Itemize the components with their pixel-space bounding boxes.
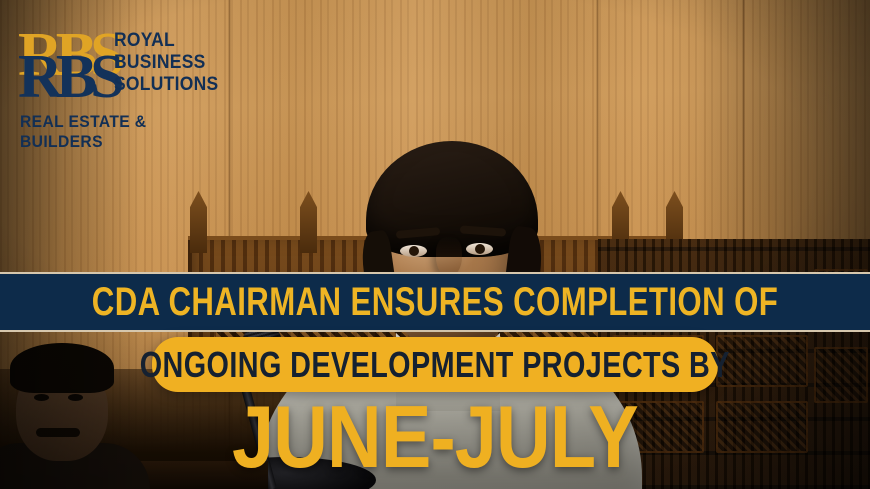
headline-line-3: JUNE-JULY (232, 394, 638, 480)
headline-line-1: CDA CHAIRMAN ENSURES COMPLETION OF (92, 280, 778, 325)
company-tagline: REAL ESTATE & BUILDERS (20, 112, 217, 152)
monogram-navy-text: RBS (18, 46, 118, 108)
company-logo[interactable]: RBS RBS ROYAL BUSINESS SOLUTIONS REAL ES… (18, 24, 234, 136)
headline-band-primary: CDA CHAIRMAN ENSURES COMPLETION OF (0, 272, 870, 332)
rbs-monogram: RBS RBS (18, 24, 114, 110)
company-name: ROYAL BUSINESS SOLUTIONS (114, 30, 228, 96)
news-banner: RBS RBS ROYAL BUSINESS SOLUTIONS REAL ES… (0, 0, 870, 489)
headline-line-2: ONGOING DEVELOPMENT PROJECTS BY (140, 344, 730, 386)
headline-pill: ONGOING DEVELOPMENT PROJECTS BY (152, 337, 718, 392)
company-name-line-1: ROYAL (114, 30, 218, 52)
company-name-line-3: SOLUTIONS (114, 74, 218, 96)
headline-emphasis: JUNE-JULY (0, 394, 870, 480)
company-name-line-2: BUSINESS (114, 52, 218, 74)
